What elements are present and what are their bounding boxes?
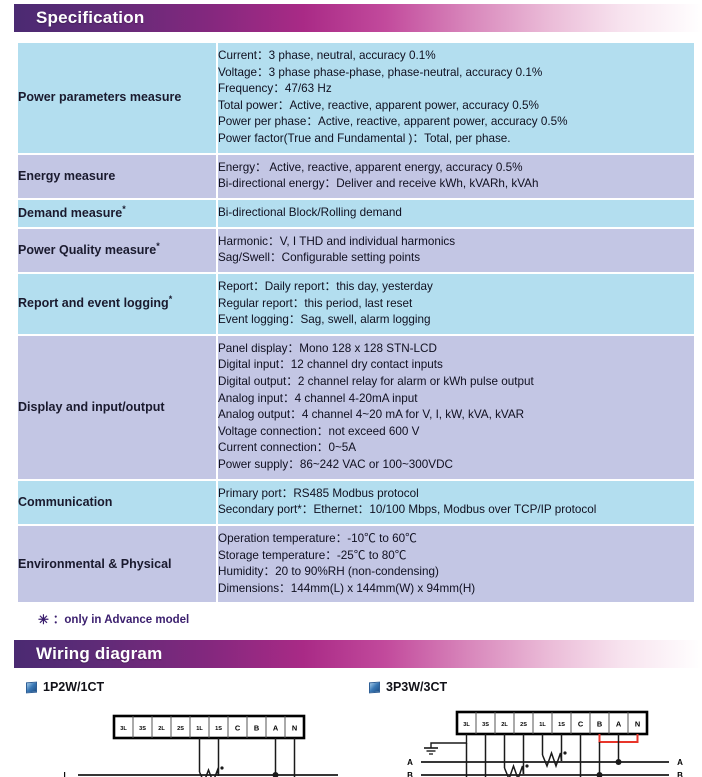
wiring-schematic: 3L 3S 2L 2S 1L 1S C B A N xyxy=(26,696,346,777)
wiring-schematic: 3L 3S 2L 2S 1L 1S C B A N xyxy=(369,696,699,777)
spec-value-cell: Report：Daily report：this day, yesterday … xyxy=(218,274,694,334)
spec-label-cell: Display and input/output xyxy=(18,336,218,479)
table-row: Demand measure* Bi-directional Block/Rol… xyxy=(18,200,694,227)
table-row: Report and event logging* Report：Daily r… xyxy=(18,274,694,334)
specification-table-body: Power parameters measure Current：3 phase… xyxy=(18,43,694,602)
terminal-3l: 3L xyxy=(463,722,470,728)
line-label-a-right: A xyxy=(677,758,683,767)
table-row: Energy measure Energy： Active, reactive,… xyxy=(18,155,694,198)
wiring-diagram-1p2w-1ct: 1P2W/1CT 3L 3S 2L xyxy=(0,678,351,777)
terminal-c: C xyxy=(235,724,241,733)
advance-model-footnote: ✳ ：only in Advance model xyxy=(18,604,694,627)
specification-table-wrap: Power parameters measure Current：3 phase… xyxy=(0,32,702,627)
asterisk-icon: ✳ xyxy=(38,613,49,626)
spec-label-text: Power parameters measure xyxy=(18,90,181,104)
spec-label-text: Display and input/output xyxy=(18,400,165,414)
terminal-1l: 1L xyxy=(196,726,203,732)
terminal-2s: 2S xyxy=(177,726,184,732)
terminal-3l: 3L xyxy=(120,726,127,732)
specification-banner-title: Specification xyxy=(14,8,144,28)
spec-value-cell: Energy： Active, reactive, apparent energ… xyxy=(218,155,694,198)
specification-banner: Specification xyxy=(14,4,702,32)
datasheet-page: Specification Power parameters measure C… xyxy=(0,0,702,777)
spec-label-text: Energy measure xyxy=(18,169,115,183)
spec-label-text: Power Quality measure xyxy=(18,243,156,257)
voltage-taps xyxy=(273,738,298,777)
polarity-dot xyxy=(220,767,223,770)
spec-label-text: Report and event logging xyxy=(18,296,169,310)
terminal-a: A xyxy=(616,720,622,729)
diagram-header: 3P3W/3CT xyxy=(369,680,702,694)
specification-table: Power parameters measure Current：3 phase… xyxy=(18,41,694,604)
spec-label-cell: Communication xyxy=(18,481,218,524)
terminal-3s: 3S xyxy=(482,722,489,728)
advance-model-star: * xyxy=(156,241,160,251)
spec-label-cell: Demand measure* xyxy=(18,200,218,227)
terminal-block: 3L 3S 2L 2S 1L 1S C B A N xyxy=(457,712,647,734)
cube-bullet-icon xyxy=(369,681,380,693)
terminal-2s: 2S xyxy=(520,722,527,728)
terminal-n: N xyxy=(635,720,640,729)
spec-value-cell: Bi-directional Block/Rolling demand xyxy=(218,200,694,227)
terminal-1s: 1S xyxy=(558,722,565,728)
terminal-1s: 1S xyxy=(215,726,222,732)
terminal-2l: 2L xyxy=(501,722,508,728)
terminal-2l: 2L xyxy=(158,726,165,732)
spec-label-cell: Energy measure xyxy=(18,155,218,198)
spec-label-cell: Report and event logging* xyxy=(18,274,218,334)
spec-label-text: Demand measure xyxy=(18,206,122,220)
spec-label-cell: Power Quality measure* xyxy=(18,229,218,272)
ct-wiring xyxy=(467,734,567,777)
line-label-b-right: B xyxy=(677,771,683,777)
spec-value-cell: Primary port：RS485 Modbus protocol Secon… xyxy=(218,481,694,524)
line-label-l: L xyxy=(64,771,69,777)
terminal-a: A xyxy=(273,724,279,733)
wiring-diagram-grid: 1P2W/1CT 3L 3S 2L xyxy=(0,668,702,777)
advance-model-star: * xyxy=(122,204,126,214)
table-row: Power Quality measure* Harmonic：V, I THD… xyxy=(18,229,694,272)
terminal-3s: 3S xyxy=(139,726,146,732)
diagram-header: 1P2W/1CT xyxy=(26,680,351,694)
wiring-banner-title: Wiring diagram xyxy=(14,644,162,664)
table-row: Communication Primary port：RS485 Modbus … xyxy=(18,481,694,524)
wiring-banner: Wiring diagram xyxy=(14,640,702,668)
cube-bullet-icon xyxy=(26,681,37,693)
terminal-n: N xyxy=(292,724,297,733)
line-label-b-left: B xyxy=(407,771,413,777)
spec-label-text: Communication xyxy=(18,495,112,509)
polarity-dot xyxy=(525,765,528,768)
ground-symbol xyxy=(424,734,467,754)
table-row: Display and input/output Panel display：M… xyxy=(18,336,694,479)
terminal-b: B xyxy=(597,720,602,729)
spec-value-cell: Current：3 phase, neutral, accuracy 0.1% … xyxy=(218,43,694,153)
wiring-diagram-3p3w-3ct: 3P3W/3CT 3L 3S 2L 2S xyxy=(351,678,702,777)
advance-model-star: * xyxy=(169,294,173,304)
terminal-c: C xyxy=(578,720,584,729)
ct-wiring xyxy=(200,738,224,777)
table-row: Environmental & Physical Operation tempe… xyxy=(18,526,694,602)
spec-label-cell: Environmental & Physical xyxy=(18,526,218,602)
spec-value-cell: Operation temperature：-10℃ to 60℃ Storag… xyxy=(218,526,694,602)
terminal-block: 3L 3S 2L 2S 1L 1S C B A N xyxy=(114,716,304,738)
footnote-text: ：only in Advance model xyxy=(53,611,189,627)
spec-value-cell: Panel display：Mono 128 x 128 STN-LCD Dig… xyxy=(218,336,694,479)
spec-label-cell: Power parameters measure xyxy=(18,43,218,153)
table-row: Power parameters measure Current：3 phase… xyxy=(18,43,694,153)
spec-value-cell: Harmonic：V, I THD and individual harmoni… xyxy=(218,229,694,272)
terminal-1l: 1L xyxy=(539,722,546,728)
diagram-title: 3P3W/3CT xyxy=(386,680,447,694)
line-label-a-left: A xyxy=(407,758,413,767)
terminal-b: B xyxy=(254,724,259,733)
polarity-dot xyxy=(563,752,566,755)
diagram-title: 1P2W/1CT xyxy=(43,680,104,694)
spec-label-text: Environmental & Physical xyxy=(18,557,172,571)
